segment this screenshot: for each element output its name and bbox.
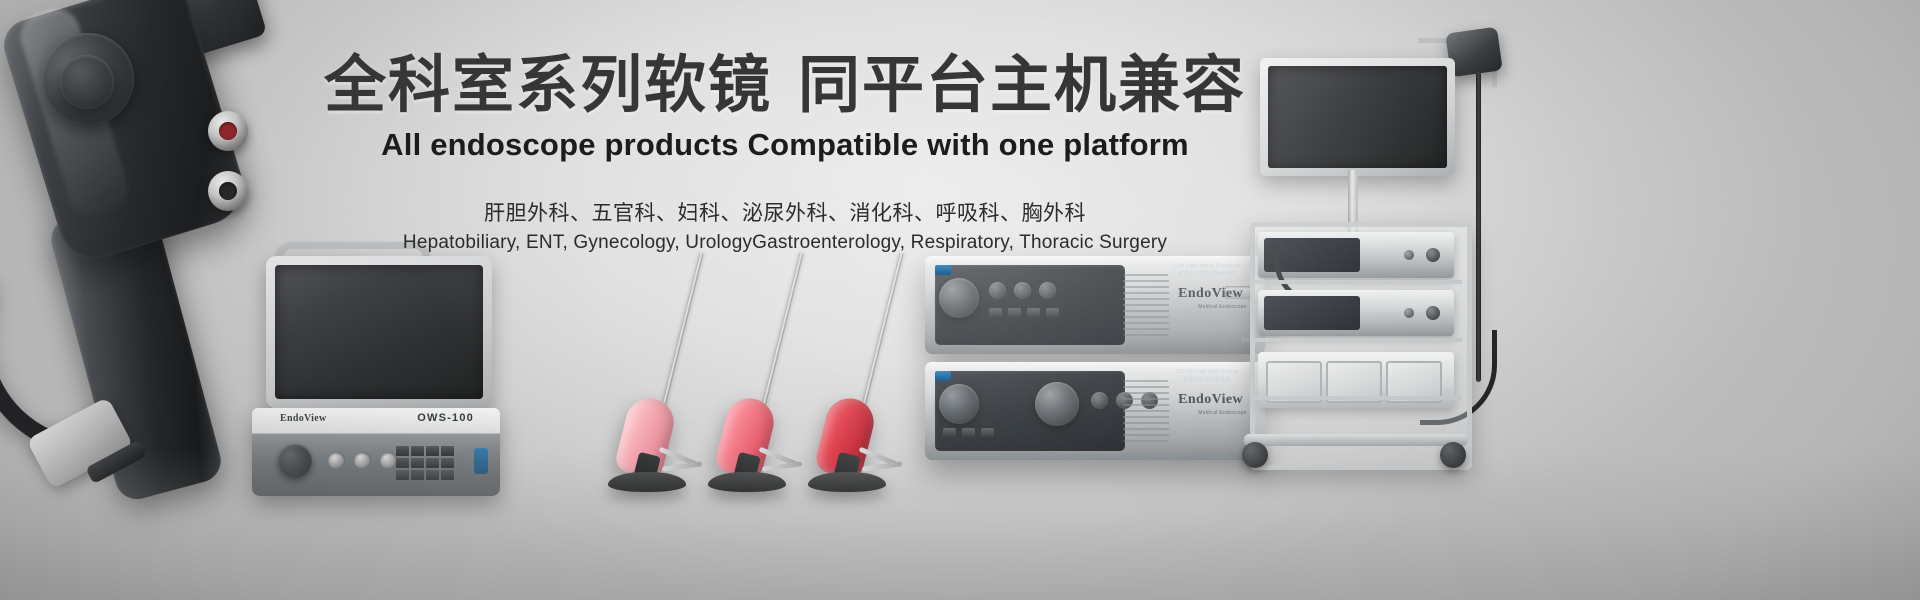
host-main-dial [939, 278, 979, 318]
host-brand-label: EndoView [1178, 392, 1243, 408]
specialties-english: Hepatobiliary, ENT, Gynecology, UrologyG… [0, 232, 1570, 254]
cart-base [1244, 434, 1468, 446]
host-power-dial [939, 384, 979, 424]
cart-device-indicator [1404, 308, 1414, 318]
host-unit-light-source: OS-300 Cold Light Source 医用氙灯冷光源系统 EndoV… [925, 362, 1265, 460]
host-panel-title: Cold-Light Image Processor 高清电子内窥镜摄像系统 [1159, 263, 1255, 278]
host-subbrand-label: Medical Endoscope [1198, 410, 1247, 416]
host-brand-label: EndoView [1178, 286, 1243, 302]
host-panel-title-cn: 医用氙灯冷光源系统 [1184, 377, 1231, 383]
host-brand-badge [935, 265, 951, 275]
host-vent-grille [1123, 380, 1169, 442]
page-title: 全科室系列软镜同平台主机兼容 [0, 48, 1570, 121]
banner-text-block: 全科室系列软镜同平台主机兼容 All endoscope products Co… [0, 48, 1570, 254]
workstation-model-label: OWS-100 [417, 412, 474, 424]
headline-part-1: 全科室系列软镜 [324, 48, 772, 121]
host-panel-title-en: OS-300 Cold Light Source [1175, 369, 1238, 375]
host-button-row [989, 308, 1059, 317]
page-subtitle: All endoscope products Compatible with o… [0, 127, 1570, 163]
host-brand-badge [935, 371, 951, 381]
host-knob-row [989, 282, 1056, 299]
cart-device-panel [1264, 296, 1360, 330]
host-panel-title: OS-300 Cold Light Source 医用氙灯冷光源系统 [1159, 369, 1255, 384]
floor-shadow [0, 450, 1920, 600]
workstation-brand-label: EndoView [280, 413, 326, 424]
workstation-display [275, 265, 483, 399]
cart-shelf-3 [1250, 396, 1462, 400]
host-control-labels [943, 428, 994, 437]
host-vent-grille [1123, 274, 1169, 336]
headline-part-2: 同平台主机兼容 [798, 48, 1246, 121]
host-unit-image-processor: Cold-Light Image Processor 高清电子内窥镜摄像系统 U… [925, 256, 1265, 354]
cart-shelf-2 [1250, 338, 1462, 342]
host-brightness-knob [1035, 382, 1079, 426]
host-panel-title-en: Cold-Light Image Processor [1173, 263, 1240, 269]
promo-banner: EndoView OWS-100 [0, 0, 1920, 600]
workstation-screen-bezel [266, 256, 492, 408]
cart-device-dial [1426, 306, 1440, 320]
cart-shelf-1 [1250, 280, 1462, 284]
host-subbrand-label: Medical Endoscope [1198, 304, 1247, 310]
specialties-chinese: 肝胆外科、五官科、妇科、泌尿外科、消化科、呼吸科、胸外科 [0, 197, 1570, 227]
host-panel-title-cn: 高清电子内窥镜摄像系统 [1178, 271, 1235, 277]
cart-device-middle [1258, 290, 1454, 336]
